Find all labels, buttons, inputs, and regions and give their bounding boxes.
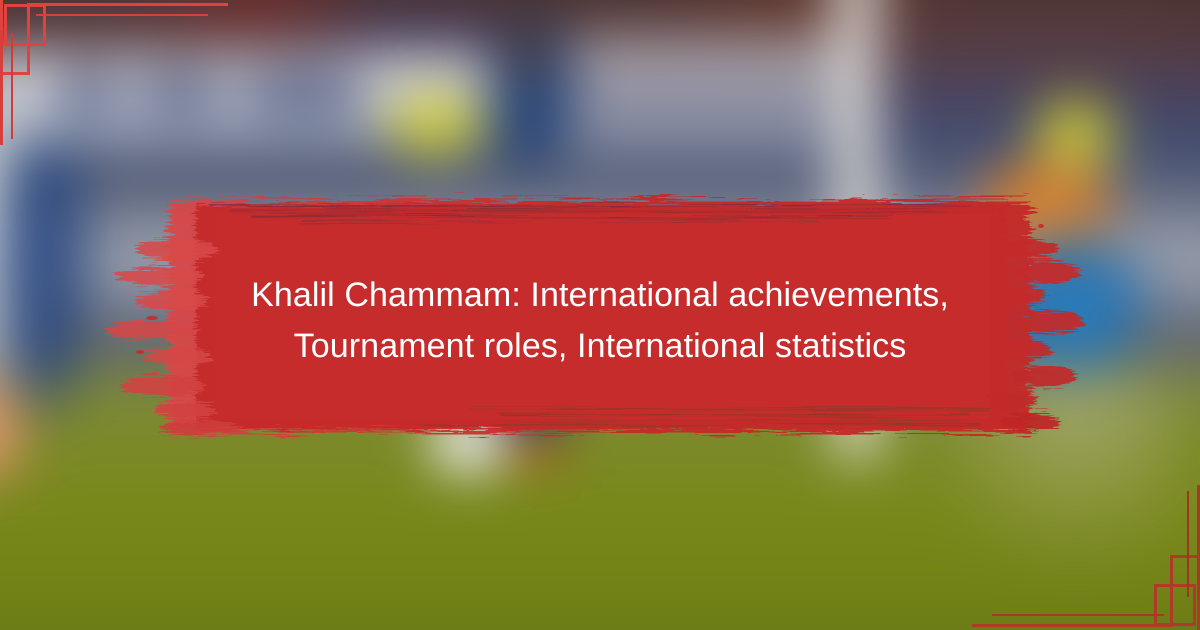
football-ball (430, 406, 508, 476)
corner-hline-inner-top (36, 14, 208, 16)
corner-elbow-top-left (0, 72, 30, 75)
corner-vline-edge-left (0, 0, 3, 30)
corner-hline-outer-top (28, 3, 228, 6)
crowd-blob-yellow (380, 90, 490, 160)
corner-vline-secondary-left (11, 33, 13, 139)
corner-vline-inner-bottom (1170, 555, 1173, 627)
player-center-boot (500, 430, 570, 464)
corner-frame-bottom-right (1000, 430, 1200, 630)
player-center-head (506, 32, 548, 80)
page-title-line-2: Tournament roles, International statisti… (0, 321, 1200, 372)
goal-post (830, 0, 882, 460)
page-title-line-1: Khalil Chammam: International achievemen… (0, 270, 1200, 321)
corner-vline-outer-left (0, 29, 3, 145)
corner-vline-secondary-right (1187, 491, 1189, 597)
corner-hline-outer-bottom (972, 624, 1172, 627)
stadium-banner-secondary (560, 36, 860, 156)
corner-square-bottom-right (1154, 584, 1196, 626)
page-title: Khalil Chammam: International achievemen… (0, 270, 1200, 372)
corner-elbow-bottom-right (1170, 555, 1200, 558)
corner-hline-inner-bottom (992, 614, 1164, 616)
share-card: Khalil Chammam: International achievemen… (0, 0, 1200, 630)
corner-vline-inner-top (27, 3, 30, 75)
corner-frame-top-left (0, 0, 200, 200)
